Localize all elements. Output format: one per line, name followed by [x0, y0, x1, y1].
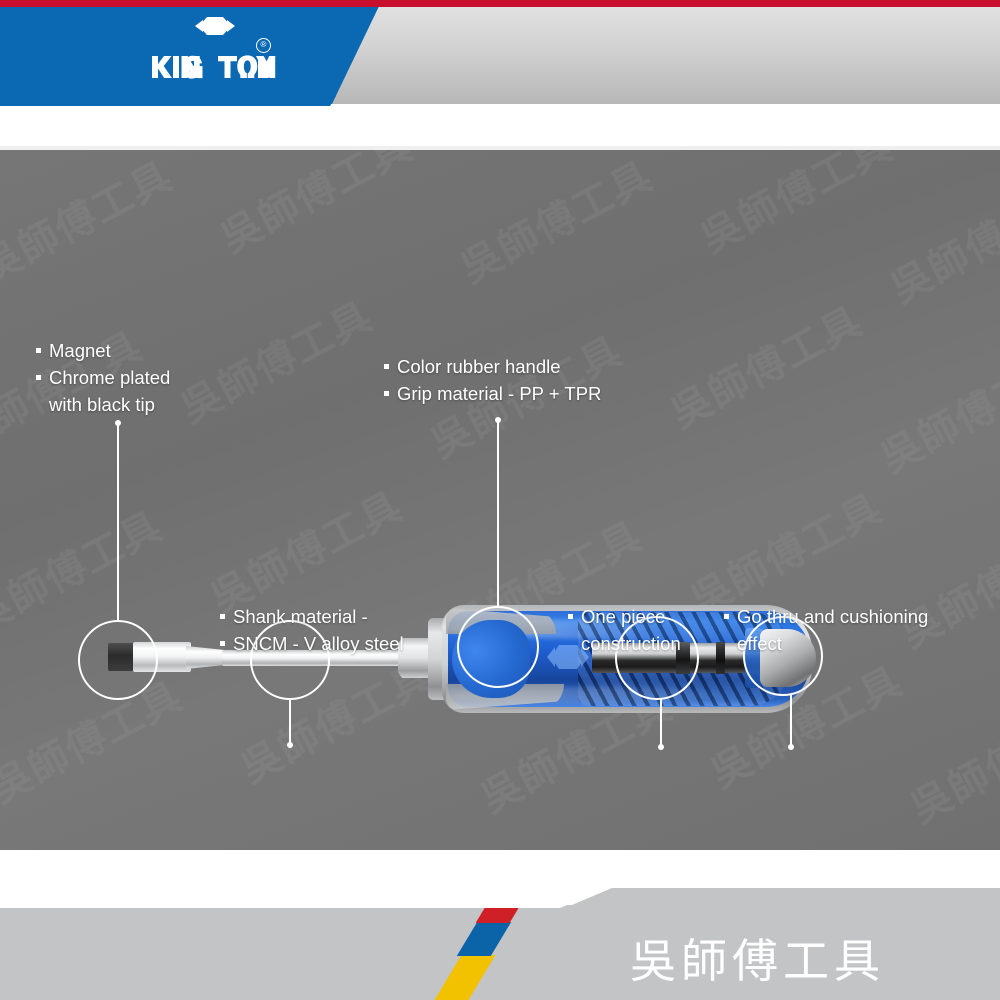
callout-dot-shank-material	[287, 742, 293, 748]
screwdriver-image	[0, 150, 1000, 850]
callout-label-magnet-chrome: Magnet Chrome plated with black tip	[34, 337, 170, 418]
header-blue-band-tail	[0, 96, 340, 106]
brand-wordmark	[150, 52, 280, 82]
registered-trademark-icon: ®	[256, 38, 271, 53]
callout-line: SNCM - V alloy steel	[218, 630, 404, 657]
callout-leader-magnet-chrome	[117, 423, 119, 621]
callout-line: Magnet	[34, 337, 170, 364]
callout-dot-magnet-chrome	[115, 420, 121, 426]
callout-line: Shank material -	[218, 603, 404, 630]
callout-line: effect	[722, 630, 928, 657]
callout-line: with black tip	[34, 391, 170, 418]
callout-leader-go-thru	[790, 695, 792, 747]
callout-dot-one-piece	[658, 744, 664, 750]
product-panel: 吳師傅工具 吳師傅工具 吳師傅工具 吳師傅工具 吳師傅工具 吳師傅工具 吳師傅工…	[0, 150, 1000, 850]
callout-label-go-thru: Go thru and cushioning effect	[722, 603, 928, 657]
brand-logo: ®	[150, 16, 280, 86]
header-red-accent	[0, 0, 1000, 7]
king-tony-hex-emblem-icon	[170, 16, 260, 52]
callout-label-shank-material: Shank material - SNCM - V alloy steel	[218, 603, 404, 657]
header-bar: ®	[0, 0, 1000, 150]
callout-leader-handle-grip	[497, 420, 499, 608]
callout-line: Go thru and cushioning	[722, 603, 928, 630]
callout-line: Color rubber handle	[382, 353, 601, 380]
callout-line: One piece	[566, 603, 681, 630]
callout-leader-one-piece	[660, 699, 662, 747]
footer-shop-name: 吳師傅工具	[630, 925, 885, 991]
callout-line: construction	[566, 630, 681, 657]
infographic-page: ®	[0, 0, 1000, 1000]
callout-circle-handle-grip	[457, 606, 539, 688]
callout-label-handle-grip: Color rubber handle Grip material - PP +…	[382, 353, 601, 407]
callout-line: Grip material - PP + TPR	[382, 380, 601, 407]
callout-label-one-piece: One piece construction	[566, 603, 681, 657]
callout-circle-magnet-chrome	[78, 620, 158, 700]
callout-dot-handle-grip	[495, 417, 501, 423]
callout-line: Chrome plated	[34, 364, 170, 391]
callout-dot-go-thru	[788, 744, 794, 750]
callout-leader-shank-material	[289, 699, 291, 745]
